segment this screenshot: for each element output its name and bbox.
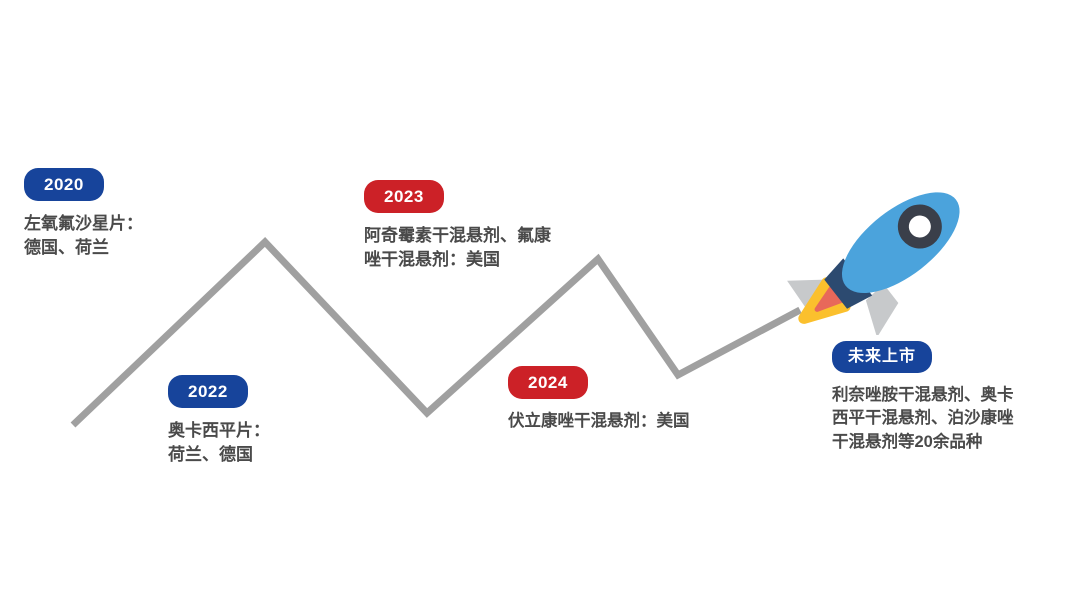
milestone-2020-badge[interactable]: 2020 — [24, 168, 104, 201]
milestone-2024-badge[interactable]: 2024 — [508, 366, 588, 399]
milestone-2022: 2022 奥卡西平片： 荷兰、德国 — [168, 375, 270, 467]
milestone-2022-description: 奥卡西平片： 荷兰、德国 — [168, 419, 270, 467]
timeline-infographic: 2020 左氧氟沙星片： 德国、荷兰 2022 奥卡西平片： 荷兰、德国 202… — [0, 0, 1080, 608]
milestone-future: 未来上市 利奈唑胺干混悬剂、奥卡 西平干混悬剂、泊沙康唑 干混悬剂等20余品种 — [832, 341, 1062, 454]
milestone-2024-description: 伏立康唑干混悬剂：美国 — [508, 410, 690, 433]
milestone-2023-badge[interactable]: 2023 — [364, 180, 444, 213]
milestone-2023: 2023 阿奇霉素干混悬剂、氟康 唑干混悬剂：美国 — [364, 180, 551, 272]
milestone-2020: 2020 左氧氟沙星片： 德国、荷兰 — [24, 168, 143, 260]
milestone-2024: 2024 伏立康唑干混悬剂：美国 — [508, 366, 690, 433]
milestone-future-description: 利奈唑胺干混悬剂、奥卡 西平干混悬剂、泊沙康唑 干混悬剂等20余品种 — [832, 384, 1062, 454]
milestone-future-badge[interactable]: 未来上市 — [832, 341, 932, 373]
rocket-icon — [770, 175, 1000, 335]
milestone-2023-description: 阿奇霉素干混悬剂、氟康 唑干混悬剂：美国 — [364, 224, 551, 272]
milestone-2020-description: 左氧氟沙星片： 德国、荷兰 — [24, 212, 143, 260]
milestone-2022-badge[interactable]: 2022 — [168, 375, 248, 408]
